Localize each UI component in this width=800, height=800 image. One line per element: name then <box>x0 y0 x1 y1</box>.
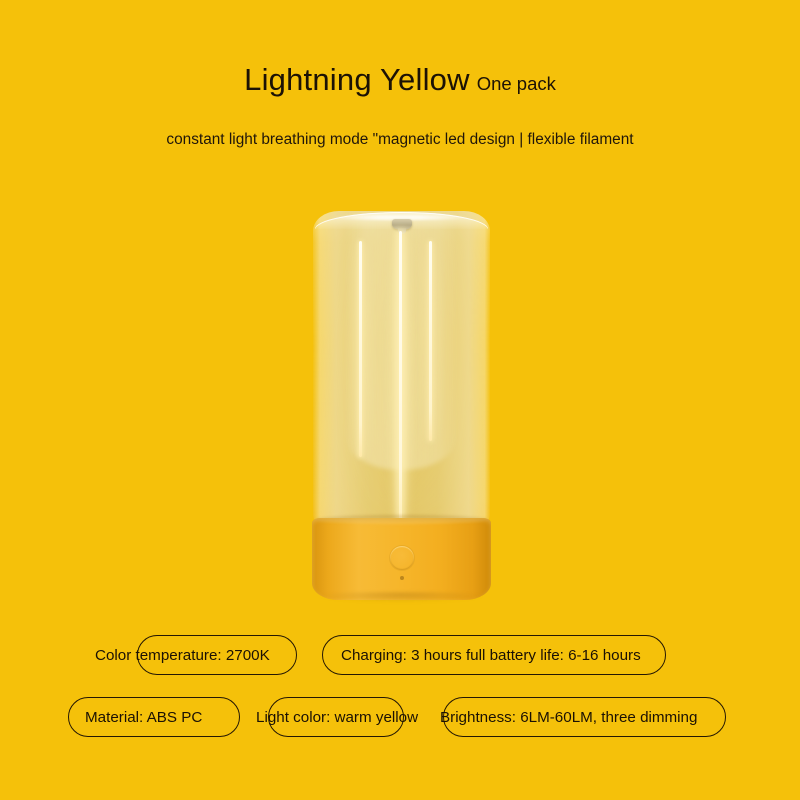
spec-pill-label-color-temperature: Color temperature: 2700K <box>95 648 270 663</box>
spec-pill-label-brightness: Brightness: 6LM-60LM, three dimming <box>440 710 697 725</box>
product-promo-image: Lightning YellowOne pack constant light … <box>0 0 800 800</box>
glass-cylinder-shade <box>313 211 490 523</box>
product-title: Lightning Yellow <box>244 62 470 97</box>
lamp-product-image <box>300 200 506 612</box>
filament-right <box>429 241 432 441</box>
base-top-seam <box>315 515 488 524</box>
spec-pill-label-material: Material: ABS PC <box>85 710 202 725</box>
spec-pill-label-light-color: Light color: warm yellow <box>256 710 418 725</box>
base-bottom-edge <box>318 592 485 602</box>
lamp-base <box>312 518 491 600</box>
pack-label: One pack <box>477 73 556 94</box>
filament-center <box>399 231 402 523</box>
filament-left <box>359 241 362 457</box>
filament-mount <box>392 219 412 230</box>
spec-pill-label-charging: Charging: 3 hours full battery life: 6-1… <box>341 648 641 663</box>
page-title: Lightning YellowOne pack <box>0 64 800 95</box>
product-subtitle: constant light breathing mode "magnetic … <box>0 131 800 149</box>
power-button[interactable] <box>390 546 414 570</box>
status-led-dot <box>400 576 404 580</box>
